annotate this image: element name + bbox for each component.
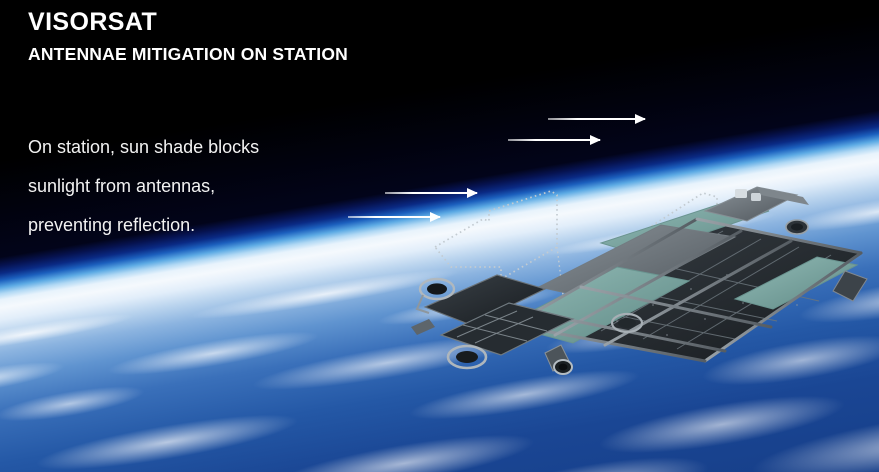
description-block: On station, sun shade blocks sunlight fr… [28,128,358,245]
description-line-3: preventing reflection. [28,206,358,245]
antenna-dish-right [786,220,808,234]
antenna-ring-lower [448,346,486,368]
thruster-nozzle [545,345,572,374]
page-title: VISORSAT [28,10,157,35]
arrow-lower-right [385,188,477,198]
arrow-shaft [508,139,600,141]
description-line-2: sunlight from antennas, [28,167,358,206]
satellite-illustration [405,175,875,405]
arrow-head-icon [635,114,646,124]
arrow-upper-right [548,114,645,124]
arrow-shaft [348,216,440,218]
page-subtitle: ANTENNAE MITIGATION ON STATION [28,46,348,64]
arrow-lower-left [348,212,440,222]
arrow-head-icon [467,188,478,198]
arrow-shaft [385,192,477,194]
arrow-upper-left [508,135,600,145]
satellite-chassis [505,187,861,361]
arrow-head-icon [590,135,601,145]
arrow-shaft [548,118,645,120]
visorsat-infographic: VISORSAT ANTENNAE MITIGATION ON STATION … [0,0,879,472]
arrow-head-icon [430,212,441,222]
description-line-1: On station, sun shade blocks [28,128,358,167]
